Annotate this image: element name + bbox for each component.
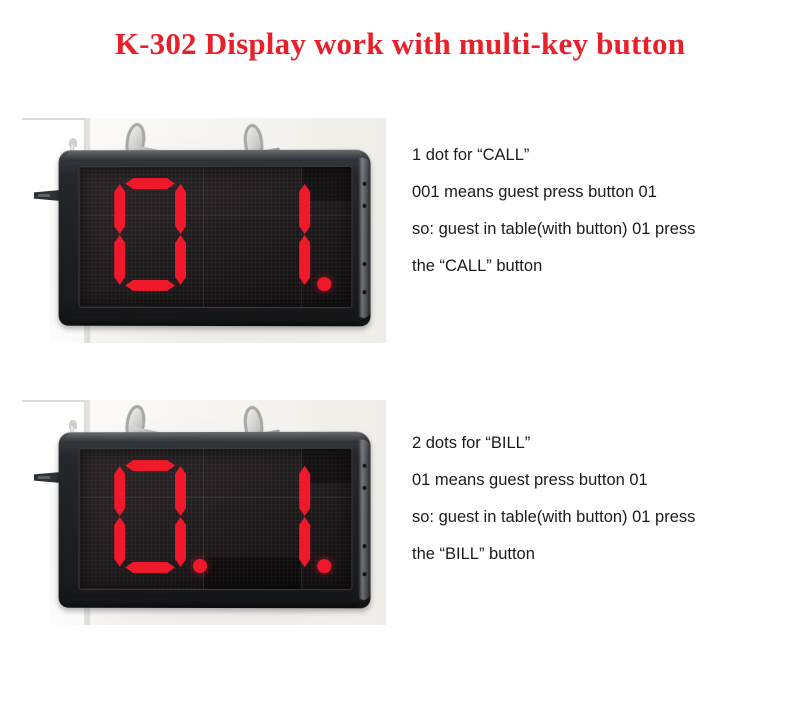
caption-call-line-2: 001 means guest press button 01 <box>412 174 792 211</box>
segment-d <box>125 280 175 291</box>
caption-bill-line-3: so: guest in table(with button) 01 press <box>412 499 792 536</box>
caption-call-line-1: 1 dot for “CALL” <box>412 137 792 174</box>
segment-d <box>125 562 175 573</box>
device-screw <box>362 544 366 548</box>
device-screw <box>362 204 366 208</box>
device-bottom-edge <box>67 599 363 609</box>
display-device-bill <box>59 432 371 609</box>
segment-c <box>175 235 186 285</box>
segment-b <box>299 466 310 516</box>
segment-e <box>114 517 125 567</box>
device-screw <box>362 182 366 186</box>
caption-bill-line-1: 2 dots for “BILL” <box>412 425 792 462</box>
led-panel-bill <box>78 448 352 590</box>
page-title: K-302 Display work with multi-key button <box>0 26 800 62</box>
seven-segment-digit-1-bill <box>113 460 187 574</box>
device-right-side <box>358 440 370 601</box>
segment-c <box>175 517 186 567</box>
caption-call-line-3: so: guest in table(with button) 01 press <box>412 211 792 248</box>
segment-e <box>114 235 125 285</box>
segment-b <box>299 184 310 234</box>
segment-c <box>299 517 310 567</box>
caption-bill-line-2: 01 means guest press button 01 <box>412 462 792 499</box>
decimal-point-dot <box>317 277 331 291</box>
caption-call-line-4: the “CALL” button <box>412 248 792 285</box>
seven-segment-digit-2-bill <box>237 460 311 574</box>
decimal-point-dot <box>193 559 207 573</box>
caption-bill: 2 dots for “BILL” 01 means guest press b… <box>412 425 792 573</box>
product-photo-call <box>22 118 386 343</box>
device-screw <box>362 572 366 576</box>
segment-c <box>299 235 310 285</box>
device-bottom-edge <box>67 317 363 327</box>
seven-segment-digit-1-call <box>113 178 187 292</box>
panel-seam <box>203 167 204 307</box>
segment-a <box>125 460 175 471</box>
device-screw <box>362 262 366 266</box>
segment-b <box>175 184 186 234</box>
wall-seam-horizontal <box>22 118 86 120</box>
segment-a <box>125 178 175 189</box>
segment-f <box>114 184 125 234</box>
caption-call: 1 dot for “CALL” 001 means guest press b… <box>412 137 792 285</box>
device-top-edge <box>65 432 365 444</box>
decimal-point-dot <box>317 559 331 573</box>
led-panel-call <box>78 166 352 308</box>
device-top-edge <box>65 150 365 162</box>
display-device-call <box>59 150 371 327</box>
device-screw <box>362 290 366 294</box>
segment-f <box>114 466 125 516</box>
device-screw <box>362 486 366 490</box>
wall-seam-horizontal <box>22 400 86 402</box>
device-screw <box>362 464 366 468</box>
product-photo-bill <box>22 400 386 625</box>
seven-segment-digit-2-call <box>237 178 311 292</box>
segment-b <box>175 466 186 516</box>
caption-bill-line-4: the “BILL” button <box>412 536 792 573</box>
device-right-side <box>358 158 370 319</box>
